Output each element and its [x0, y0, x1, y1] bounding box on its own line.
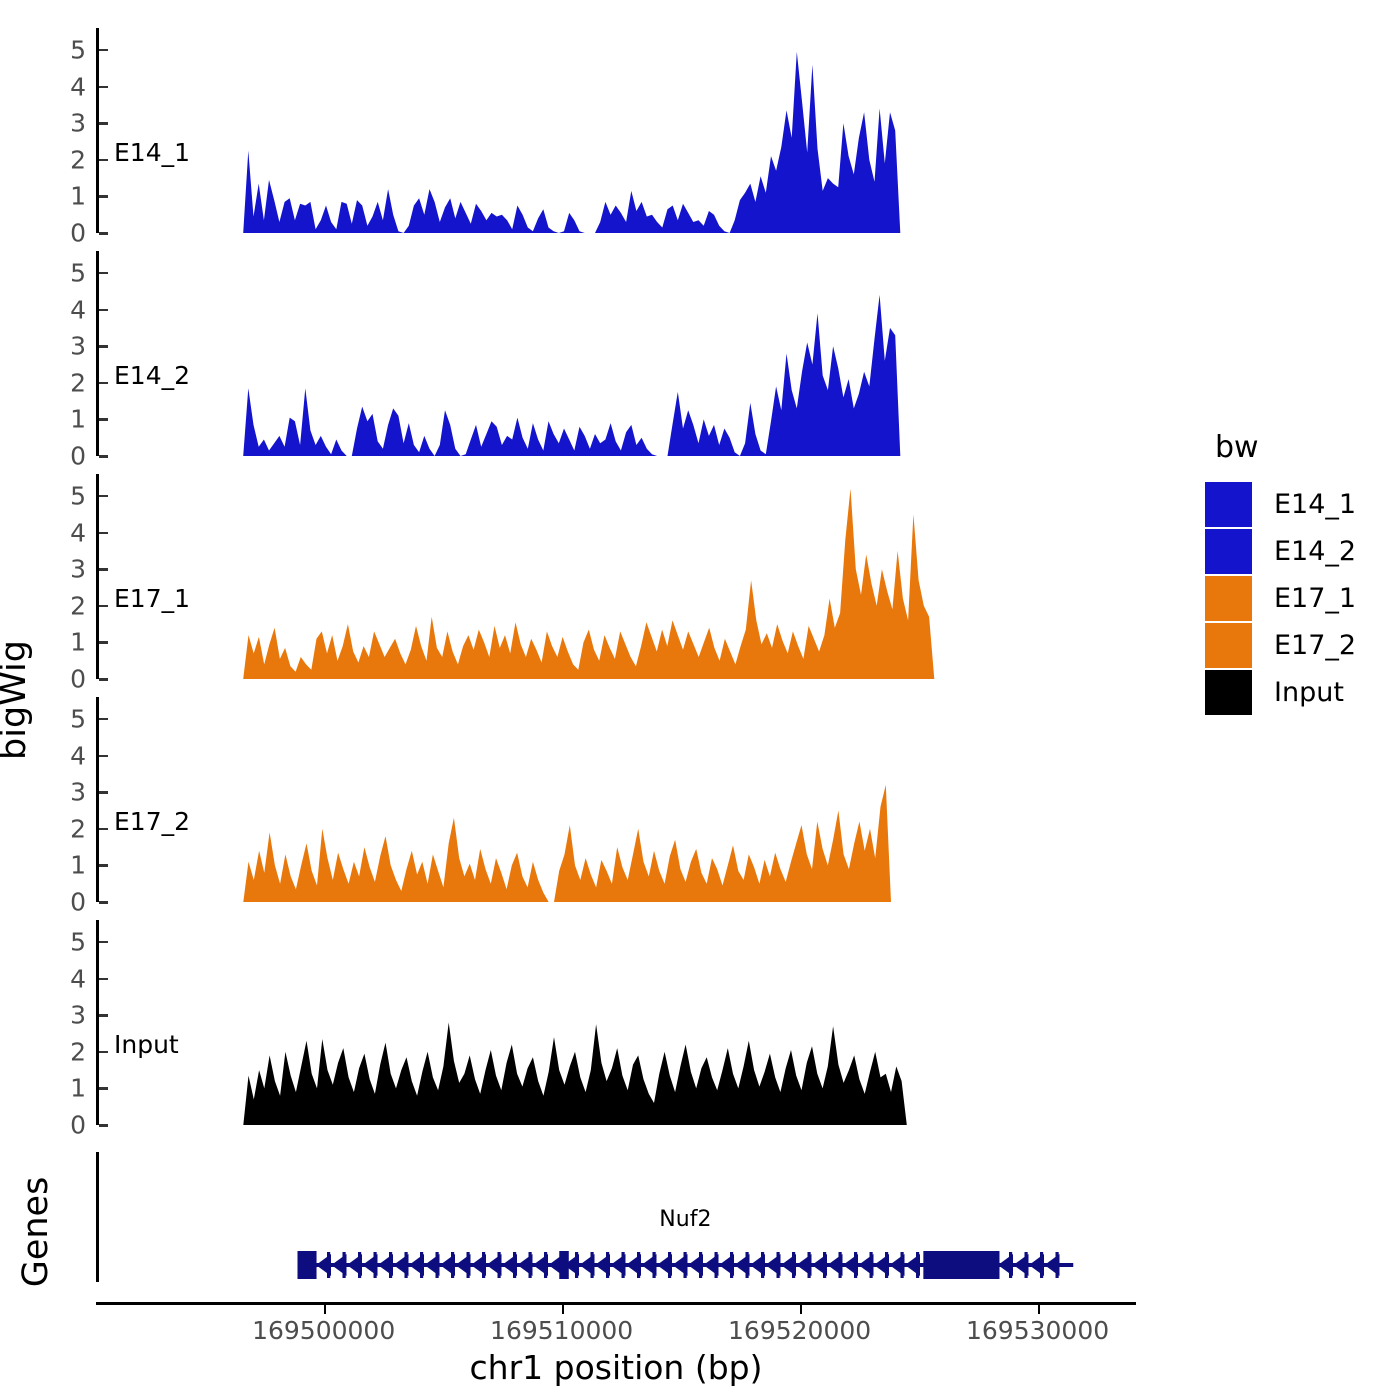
legend-swatch [1205, 576, 1252, 621]
track-panel-e14_1: 012345E14_1 [96, 28, 1136, 233]
x-axis-title: chr1 position (bp) [470, 1348, 763, 1387]
gene-track-panel: Nuf2 [96, 1152, 1136, 1300]
y-tick-label: 2 [26, 591, 86, 620]
y-tick-label: 1 [26, 628, 86, 657]
y-tick-label: 4 [26, 295, 86, 324]
y-tick-label: 2 [26, 145, 86, 174]
coverage-area-e14_1 [96, 28, 1136, 233]
legend-swatch [1205, 529, 1252, 574]
legend-label: Input [1274, 677, 1344, 708]
y-tick-label: 3 [26, 332, 86, 361]
y-tick-label: 0 [26, 219, 86, 248]
gene-model-nuf2[interactable] [96, 1152, 1136, 1300]
coverage-area-input [96, 920, 1136, 1125]
legend-swatch [1205, 623, 1252, 668]
y-tick-label: 1 [26, 1074, 86, 1103]
x-axis-line: 169500000169510000169520000169530000 [96, 1302, 1136, 1305]
y-tick-label: 3 [26, 109, 86, 138]
y-tick-label: 3 [26, 1001, 86, 1030]
genome-browser-figure: bigWig Genes 012345E14_1012345E14_201234… [0, 0, 1400, 1400]
coverage-area-e17_2 [96, 697, 1136, 902]
y-tick-label: 4 [26, 964, 86, 993]
y-tick-label: 4 [26, 518, 86, 547]
track-panel-e17_2: 012345E17_2 [96, 697, 1136, 902]
legend-swatch [1205, 482, 1252, 527]
legend-item-e14_1[interactable]: E14_1 [1205, 481, 1356, 528]
y-tick-label: 3 [26, 778, 86, 807]
y-tick-label: 2 [26, 1037, 86, 1066]
y-tick-label: 0 [26, 888, 86, 917]
coverage-area-e17_1 [96, 474, 1136, 679]
legend-label: E14_2 [1274, 536, 1356, 567]
y-tick-label: 5 [26, 258, 86, 287]
legend-label: E17_2 [1274, 630, 1356, 661]
y-tick-label: 5 [26, 704, 86, 733]
legend-item-input[interactable]: Input [1205, 669, 1356, 716]
y-tick-label: 3 [26, 555, 86, 584]
legend-entries: E14_1E14_2E17_1E17_2Input [1205, 481, 1356, 716]
track-panel-e14_2: 012345E14_2 [96, 251, 1136, 456]
legend-item-e14_2[interactable]: E14_2 [1205, 528, 1356, 575]
y-tick-label: 1 [26, 182, 86, 211]
y-tick-label: 1 [26, 851, 86, 880]
y-tick-label: 4 [26, 741, 86, 770]
x-tick-label: 169520000 [728, 1316, 871, 1345]
x-tick [324, 1305, 326, 1314]
genes-strip-label: Genes [16, 1177, 56, 1288]
x-tick [800, 1305, 802, 1314]
legend-item-e17_1[interactable]: E17_1 [1205, 575, 1356, 622]
coverage-area-e14_2 [96, 251, 1136, 456]
legend-title: bw [1215, 430, 1356, 465]
y-tick-label: 5 [26, 481, 86, 510]
y-tick-label: 0 [26, 665, 86, 694]
legend-label: E17_1 [1274, 583, 1356, 614]
y-tick-label: 4 [26, 72, 86, 101]
y-tick-label: 0 [26, 1111, 86, 1140]
legend-item-e17_2[interactable]: E17_2 [1205, 622, 1356, 669]
legend: bw E14_1E14_2E17_1E17_2Input [1205, 430, 1356, 716]
y-tick-label: 1 [26, 405, 86, 434]
track-panel-input: 012345Input [96, 920, 1136, 1125]
legend-swatch [1205, 670, 1252, 715]
x-tick-label: 169530000 [966, 1316, 1109, 1345]
y-tick-label: 0 [26, 442, 86, 471]
track-panel-e17_1: 012345E17_1 [96, 474, 1136, 679]
legend-label: E14_1 [1274, 489, 1356, 520]
x-tick [562, 1305, 564, 1314]
x-tick-label: 169500000 [252, 1316, 395, 1345]
y-tick-label: 2 [26, 368, 86, 397]
y-tick-label: 5 [26, 927, 86, 956]
x-tick-label: 169510000 [490, 1316, 633, 1345]
x-tick [1038, 1305, 1040, 1314]
y-tick-label: 5 [26, 35, 86, 64]
y-tick-label: 2 [26, 814, 86, 843]
